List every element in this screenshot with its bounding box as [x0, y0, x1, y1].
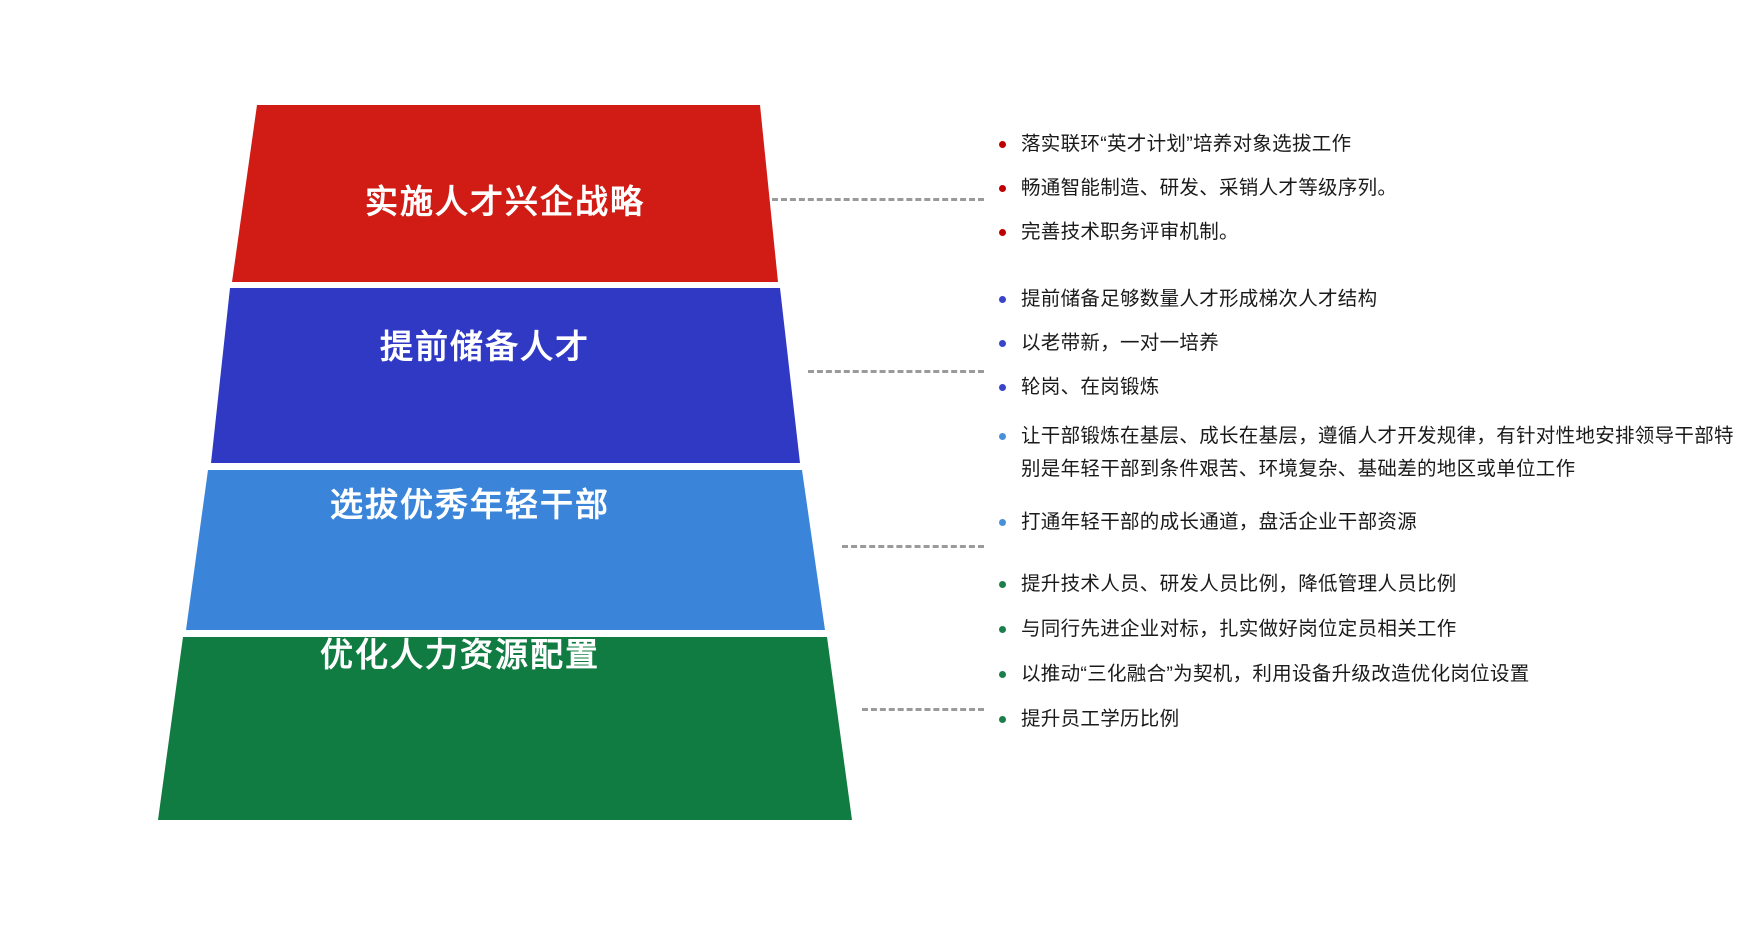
bullet-item: 让干部锻炼在基层、成长在基层，遵循人才开发规律，有针对性地安排领导干部特别是年轻… [995, 420, 1735, 486]
bullet-item: 打通年轻干部的成长通道，盘活企业干部资源 [995, 506, 1735, 539]
bullet-text: 打通年轻干部的成长通道，盘活企业干部资源 [1021, 511, 1417, 533]
bullet-text: 落实联环“英才计划”培养对象选拔工作 [1021, 133, 1351, 155]
bullet-text: 完善技术职务评审机制。 [1021, 221, 1239, 243]
connector-line-level-4 [862, 708, 984, 711]
bullet-dot-icon [999, 519, 1006, 526]
bullet-item: 与同行先进企业对标，扎实做好岗位定员相关工作 [995, 613, 1735, 646]
bullet-dot-icon [999, 671, 1006, 678]
bullet-group-level-4: 提升技术人员、研发人员比例，降低管理人员比例与同行先进企业对标，扎实做好岗位定员… [995, 568, 1735, 748]
bullet-text: 以老带新，一对一培养 [1021, 332, 1219, 354]
pyramid-band-3[interactable] [186, 470, 825, 630]
bullet-dot-icon [999, 296, 1006, 303]
bullet-dot-icon [999, 626, 1006, 633]
bullet-dot-icon [999, 229, 1006, 236]
bullet-text: 提升员工学历比例 [1021, 708, 1179, 730]
pyramid-diagram-canvas: 实施人才兴企战略 提前储备人才 选拔优秀年轻干部 优化人力资源配置 落实联环“英… [0, 0, 1743, 932]
bullet-item: 完善技术职务评审机制。 [995, 216, 1735, 249]
bullet-dot-icon [999, 141, 1006, 148]
connector-line-level-1 [772, 198, 984, 201]
bullet-dot-icon [999, 185, 1006, 192]
bullet-item: 轮岗、在岗锻炼 [995, 371, 1735, 404]
bullet-item: 以老带新，一对一培养 [995, 327, 1735, 360]
bullet-text: 轮岗、在岗锻炼 [1021, 376, 1160, 398]
bullet-dot-icon [999, 581, 1006, 588]
bullet-text: 以推动“三化融合”为契机，利用设备升级改造优化岗位设置 [1021, 663, 1530, 685]
connector-line-level-3 [842, 545, 984, 548]
bullet-item: 畅通智能制造、研发、采销人才等级序列。 [995, 172, 1735, 205]
connector-line-level-2 [808, 370, 984, 373]
bullet-dot-icon [999, 384, 1006, 391]
bullet-text: 提前储备足够数量人才形成梯次人才结构 [1021, 288, 1377, 310]
bullet-text: 提升技术人员、研发人员比例，降低管理人员比例 [1021, 573, 1457, 595]
bullet-text: 畅通智能制造、研发、采销人才等级序列。 [1021, 177, 1397, 199]
bullet-group-level-3: 让干部锻炼在基层、成长在基层，遵循人才开发规律，有针对性地安排领导干部特别是年轻… [995, 420, 1735, 559]
bullet-item: 提升员工学历比例 [995, 703, 1735, 736]
bullet-dot-icon [999, 340, 1006, 347]
bullet-text: 让干部锻炼在基层、成长在基层，遵循人才开发规律，有针对性地安排领导干部特别是年轻… [1021, 425, 1734, 480]
bullet-item: 提升技术人员、研发人员比例，降低管理人员比例 [995, 568, 1735, 601]
bullet-item: 以推动“三化融合”为契机，利用设备升级改造优化岗位设置 [995, 658, 1735, 691]
bullet-item: 提前储备足够数量人才形成梯次人才结构 [995, 283, 1735, 316]
bullet-dot-icon [999, 716, 1006, 723]
pyramid-band-4[interactable] [158, 637, 852, 820]
pyramid-shape-group [0, 0, 900, 932]
pyramid-band-1[interactable] [232, 105, 778, 282]
bullet-text: 与同行先进企业对标，扎实做好岗位定员相关工作 [1021, 618, 1457, 640]
bullet-dot-icon [999, 433, 1006, 440]
pyramid-band-2[interactable] [211, 288, 800, 463]
bullet-item: 落实联环“英才计划”培养对象选拔工作 [995, 128, 1735, 161]
bullet-group-level-1: 落实联环“英才计划”培养对象选拔工作畅通智能制造、研发、采销人才等级序列。完善技… [995, 128, 1735, 249]
bullet-group-level-2: 提前储备足够数量人才形成梯次人才结构以老带新，一对一培养轮岗、在岗锻炼 [995, 283, 1735, 404]
